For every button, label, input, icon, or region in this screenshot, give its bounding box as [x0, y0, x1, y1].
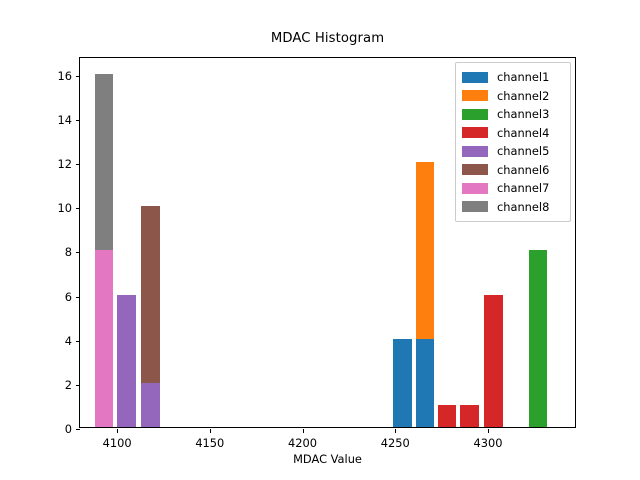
legend-item-channel7[interactable]: channel7: [462, 179, 564, 198]
legend-label: channel2: [497, 89, 549, 103]
legend-swatch-icon: [462, 127, 488, 138]
bar-channel5: [141, 383, 160, 427]
y-tick: [76, 208, 80, 209]
x-tick-label: 4250: [381, 436, 410, 450]
x-tick-label: 4300: [473, 436, 502, 450]
y-tick: [76, 164, 80, 165]
bar-channel3: [529, 250, 548, 427]
legend-item-channel6[interactable]: channel6: [462, 161, 564, 180]
x-tick: [117, 429, 118, 433]
legend-label: channel6: [497, 163, 549, 177]
bar-channel8: [95, 74, 114, 251]
legend-swatch-icon: [462, 183, 488, 194]
y-tick-label: 16: [32, 69, 72, 83]
bar-channel1: [416, 339, 435, 427]
x-tick: [488, 429, 489, 433]
y-tick-label: 8: [32, 245, 72, 259]
y-tick-label: 4: [32, 334, 72, 348]
bar-channel4: [460, 405, 479, 427]
legend[interactable]: channel1channel2channel3channel4channel5…: [455, 62, 571, 222]
y-tick: [76, 429, 80, 430]
figure: MDAC Histogram 41004150420042504300 0246…: [0, 0, 640, 480]
y-tick: [76, 341, 80, 342]
y-tick: [76, 76, 80, 77]
y-tick-label: 2: [32, 378, 72, 392]
x-tick-label: 4200: [288, 436, 317, 450]
legend-label: channel1: [497, 70, 549, 84]
x-tick: [303, 429, 304, 433]
bar-channel2: [416, 162, 435, 339]
x-tick-label: 4100: [103, 436, 132, 450]
bar-channel1: [393, 339, 412, 427]
legend-item-channel8[interactable]: channel8: [462, 198, 564, 217]
y-tick-label: 10: [32, 201, 72, 215]
y-tick: [76, 120, 80, 121]
x-tick: [395, 429, 396, 433]
legend-item-channel4[interactable]: channel4: [462, 124, 564, 143]
legend-swatch-icon: [462, 72, 488, 83]
y-tick: [76, 252, 80, 253]
y-tick-label: 0: [32, 422, 72, 436]
legend-swatch-icon: [462, 146, 488, 157]
legend-item-channel3[interactable]: channel3: [462, 105, 564, 124]
legend-swatch-icon: [462, 201, 488, 212]
bar-channel4: [438, 405, 457, 427]
bar-channel5: [117, 295, 136, 428]
y-tick-label: 6: [32, 290, 72, 304]
y-tick: [76, 385, 80, 386]
legend-item-channel2[interactable]: channel2: [462, 87, 564, 106]
legend-label: channel3: [497, 107, 549, 121]
legend-item-channel5[interactable]: channel5: [462, 142, 564, 161]
chart-title: MDAC Histogram: [79, 31, 576, 46]
legend-label: channel7: [497, 181, 549, 195]
legend-label: channel8: [497, 200, 549, 214]
bar-channel6: [141, 206, 160, 383]
legend-item-channel1[interactable]: channel1: [462, 68, 564, 87]
legend-swatch-icon: [462, 90, 488, 101]
x-tick-label: 4150: [195, 436, 224, 450]
x-tick: [210, 429, 211, 433]
legend-swatch-icon: [462, 164, 488, 175]
bar-channel4: [484, 295, 503, 428]
bar-channel7: [95, 250, 114, 427]
legend-label: channel5: [497, 144, 549, 158]
y-tick-label: 14: [32, 113, 72, 127]
y-tick-label: 12: [32, 157, 72, 171]
legend-swatch-icon: [462, 109, 488, 120]
legend-label: channel4: [497, 126, 549, 140]
x-axis-label: MDAC Value: [79, 452, 576, 466]
y-tick: [76, 297, 80, 298]
